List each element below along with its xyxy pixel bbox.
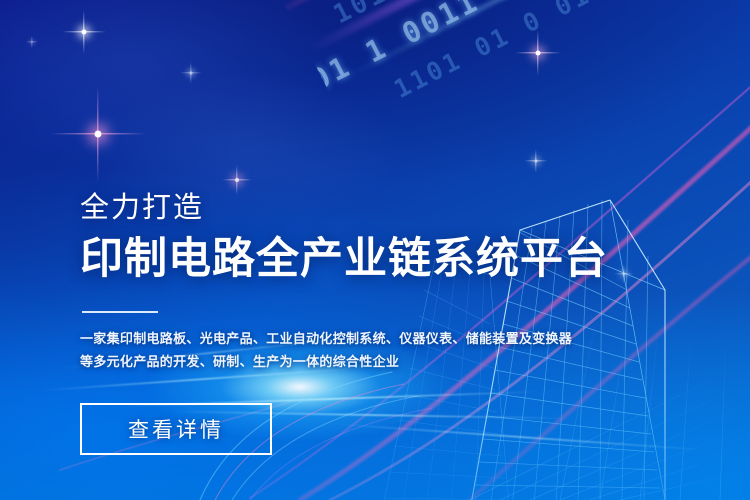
- view-details-button[interactable]: 查看详情: [80, 403, 272, 455]
- hero-banner: 01 001 01 0110 1 0010 101 1 0110 01 001 …: [0, 0, 750, 500]
- star-sparkle: [26, 36, 38, 48]
- hero-headline: 印制电路全产业链系统平台: [80, 236, 608, 282]
- hero-kicker: 全力打造: [80, 194, 204, 223]
- hero-content: 全力打造 印制电路全产业链系统平台 一家集印制电路板、光电产品、工业自动化控制系…: [80, 0, 680, 500]
- view-details-label: 查看详情: [128, 414, 224, 444]
- divider-rule: [82, 311, 158, 313]
- hero-description-line-2: 等多元化产品的开发、研制、生产为一体的综合性企业: [80, 350, 600, 373]
- hero-description-line-1: 一家集印制电路板、光电产品、工业自动化控制系统、仪器仪表、储能装置及变换器: [80, 327, 600, 350]
- hero-description: 一家集印制电路板、光电产品、工业自动化控制系统、仪器仪表、储能装置及变换器 等多…: [80, 327, 600, 373]
